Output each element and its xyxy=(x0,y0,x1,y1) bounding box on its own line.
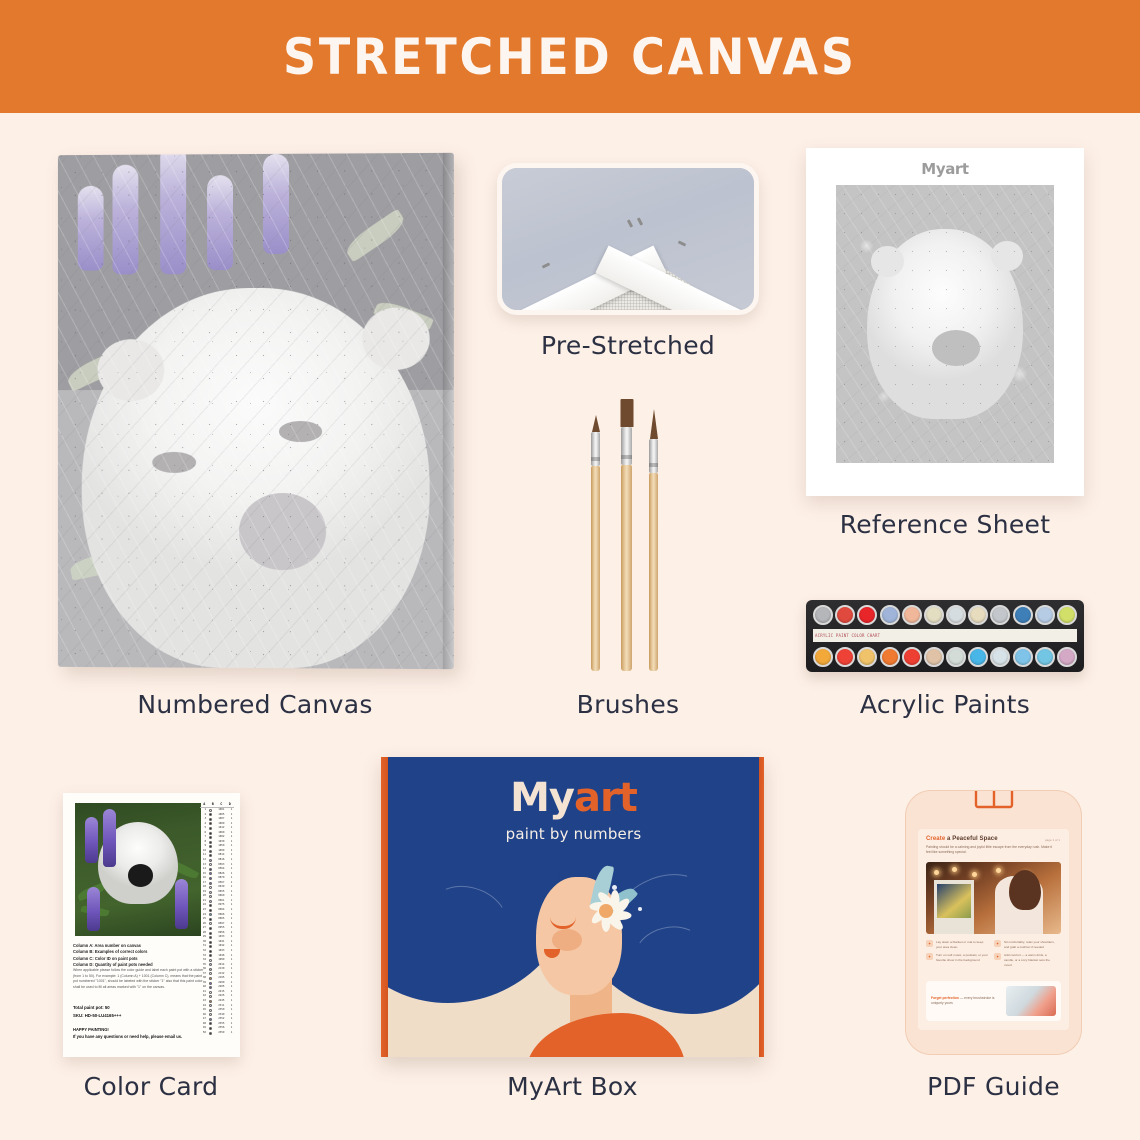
color-card-swatch xyxy=(208,982,214,985)
color-card-bear-snout xyxy=(128,864,153,887)
color-card-photo xyxy=(75,803,201,936)
pdf-guide-page: page 1 of 1 Create a Peaceful Space Pain… xyxy=(918,829,1069,1030)
color-card-swatch xyxy=(208,904,214,907)
paint-pot xyxy=(880,647,900,667)
color-card-column-header: B xyxy=(212,802,214,806)
canvas-side-edge xyxy=(443,153,454,669)
paint-by-number-numerals xyxy=(58,153,454,669)
paint-pot xyxy=(857,647,877,667)
pdf-tip-icon: ✦ xyxy=(994,940,1001,947)
pdf-guide-image: page 1 of 1 Create a Peaceful Space Pain… xyxy=(905,790,1082,1055)
color-card-swatch xyxy=(208,972,214,975)
caption-brushes: Brushes xyxy=(497,690,759,719)
pdf-photo xyxy=(926,862,1061,934)
paint-pot xyxy=(835,605,855,625)
color-card-swatch xyxy=(208,822,214,825)
color-card-swatch xyxy=(208,1004,214,1007)
color-card-quantity: 1 xyxy=(229,1031,234,1036)
paint-pot xyxy=(968,647,988,667)
color-card-swatch xyxy=(208,954,214,957)
color-card-swatch xyxy=(208,950,214,953)
color-card-swatch xyxy=(208,895,214,898)
illustration-eyelash xyxy=(550,917,576,929)
color-card-swatch xyxy=(208,1018,214,1021)
pdf-subtitle: Painting should be a calming and joyful … xyxy=(926,845,1058,856)
color-card-swatch xyxy=(208,827,214,830)
gift-icon xyxy=(966,790,1022,822)
color-card-swatch xyxy=(208,854,214,857)
color-card-image: ABCD 11001121005131007141009151012161060… xyxy=(63,793,240,1057)
color-card-swatch xyxy=(208,882,214,885)
color-card-swatch xyxy=(208,832,214,835)
daisy-flower-icon xyxy=(584,889,628,933)
paint-pot xyxy=(968,605,988,625)
color-card-swatch xyxy=(208,886,214,889)
color-card-color-id: 2359 xyxy=(215,1031,227,1036)
box-logo-art: art xyxy=(574,775,637,821)
paint-pot xyxy=(946,605,966,625)
color-card-swatch xyxy=(208,941,214,944)
color-card-column-header: D xyxy=(229,802,231,806)
illustration-lips xyxy=(544,949,560,958)
pre-stretched-image xyxy=(497,163,759,315)
box-logo: Myart xyxy=(388,775,759,821)
color-card-swatch xyxy=(208,818,214,821)
illustration-cheek xyxy=(552,929,582,951)
box-edge-right xyxy=(759,757,764,1057)
color-card-lupine xyxy=(175,879,188,929)
pdf-callout: Forget perfection — every brushstroke is… xyxy=(926,981,1061,1021)
paint-pot xyxy=(924,605,944,625)
paint-pot xyxy=(1035,647,1055,667)
color-card-swatch xyxy=(208,977,214,980)
pdf-photo-hair xyxy=(1009,870,1041,910)
pdf-callout-text: Forget perfection — every brushstroke is… xyxy=(931,996,1001,1006)
daisy-center xyxy=(599,904,613,918)
paint-pot xyxy=(1035,605,1055,625)
pdf-heading: Create a Peaceful Space xyxy=(926,836,1061,842)
caption-pre-stretched: Pre-Stretched xyxy=(497,331,759,360)
color-card-table-body: 1100112100513100714100915101216106017100… xyxy=(200,808,234,1035)
paint-pot xyxy=(902,647,922,667)
pdf-tip-text: Lay down a blanket or mat to keep your a… xyxy=(936,940,989,950)
color-card-swatch xyxy=(208,836,214,839)
color-card-swatch xyxy=(208,859,214,862)
color-card-swatch xyxy=(208,813,214,816)
caption-myart-box: MyArt Box xyxy=(381,1072,764,1101)
box-logo-my: My xyxy=(510,775,574,821)
brushes-image xyxy=(583,388,679,671)
color-card-swatch xyxy=(208,845,214,848)
pdf-page-label: page 1 of 1 xyxy=(1045,838,1060,842)
brush-tip-bristles xyxy=(620,399,633,427)
pdf-tip-icon: ✦ xyxy=(926,953,933,960)
box-tagline: paint by numbers xyxy=(388,825,759,843)
color-card-swatch xyxy=(208,936,214,939)
brush-tip-bristles xyxy=(592,415,600,432)
pdf-tip-item: ✦Sit comfortably, relax your shoulders, … xyxy=(994,940,1057,950)
acrylic-paints-image: ACRYLIC PAINT COLOR CHART xyxy=(806,600,1084,672)
product-infographic: STRETCHED CANVAS xyxy=(0,0,1140,1140)
reference-number-dots xyxy=(836,185,1054,463)
pdf-callout-accent: Forget perfection xyxy=(931,996,959,1000)
color-card-swatch xyxy=(208,913,214,916)
color-card-happy-painting: HAPPY PAINTING! xyxy=(73,1027,213,1034)
color-card-swatch xyxy=(208,968,214,971)
pdf-tip-item: ✦Add comfort — a warm drink, a candle, o… xyxy=(994,953,1057,967)
box-edge-left xyxy=(381,757,388,1057)
color-card-swatch xyxy=(208,877,214,880)
color-card-swatch xyxy=(208,841,214,844)
paint-pot xyxy=(835,647,855,667)
header-banner: STRETCHED CANVAS xyxy=(0,0,1140,113)
color-card-swatch xyxy=(208,927,214,930)
color-card-swatch xyxy=(208,1009,214,1012)
paint-pot xyxy=(880,605,900,625)
page-title: STRETCHED CANVAS xyxy=(283,28,857,86)
paint-pot xyxy=(857,605,877,625)
paint-pot xyxy=(990,605,1010,625)
pdf-tip-text: Add comfort — a warm drink, a candle, or… xyxy=(1004,953,1057,967)
pdf-photo-easel xyxy=(934,880,974,934)
color-card-lupine xyxy=(103,809,116,867)
paint-pot-row-bottom xyxy=(813,647,1077,667)
color-card-total-pots: Total paint pot: 50 xyxy=(73,1004,205,1012)
color-card-swatch xyxy=(208,891,214,894)
color-card-column-header: C xyxy=(220,802,222,806)
color-card-swatch xyxy=(208,963,214,966)
brush-flat xyxy=(621,400,632,671)
box-front-panel: Myart paint by numbers xyxy=(388,757,759,1057)
color-card-swatch xyxy=(208,850,214,853)
color-card-swatch xyxy=(208,1013,214,1016)
canvas-artwork xyxy=(58,153,454,669)
pdf-tips-list: ✦Lay down a blanket or mat to keep your … xyxy=(926,940,1061,968)
pdf-tip-icon: ✦ xyxy=(926,940,933,947)
color-card-swatch xyxy=(208,945,214,948)
color-card-swatch xyxy=(208,918,214,921)
color-card-swatch xyxy=(208,863,214,866)
pdf-tip-text: Sit comfortably, relax your shoulders, a… xyxy=(1004,940,1057,950)
color-card-swatch xyxy=(208,1022,214,1025)
color-card-swatch xyxy=(208,995,214,998)
myart-box-image: Myart paint by numbers xyxy=(381,757,764,1057)
color-card-swatch xyxy=(208,922,214,925)
pdf-heading-accent: Create xyxy=(926,836,945,842)
brush-tip-bristles xyxy=(650,409,658,439)
paint-pot xyxy=(924,647,944,667)
color-card-swatch xyxy=(208,909,214,912)
color-card-swatch xyxy=(208,900,214,903)
caption-reference-sheet: Reference Sheet xyxy=(806,510,1084,539)
color-card-sku: SKU: HD-50-LU4165+++ xyxy=(73,1012,205,1020)
pdf-tip-item: ✦Lay down a blanket or mat to keep your … xyxy=(926,940,989,950)
caption-color-card: Color Card xyxy=(40,1072,262,1101)
brush-medium-round xyxy=(649,409,658,671)
pdf-tip-icon: ✦ xyxy=(994,953,1001,960)
color-card-instructions: When applicable please follow the color … xyxy=(73,968,205,990)
color-card-table: ABCD 11001121005131007141009151012161060… xyxy=(200,802,234,1050)
color-card-swatch xyxy=(208,991,214,994)
color-card-lupine xyxy=(87,887,100,931)
reference-sheet-image: Myart xyxy=(806,148,1084,496)
paint-chart-label: ACRYLIC PAINT COLOR CHART xyxy=(813,629,1077,642)
paint-pot xyxy=(1057,647,1077,667)
color-card-footer: HAPPY PAINTING! If you have any question… xyxy=(73,1027,213,1041)
color-card-swatch xyxy=(208,986,214,989)
pdf-callout-image xyxy=(1006,986,1056,1016)
color-card-swatch xyxy=(208,868,214,871)
color-card-swatch xyxy=(208,1000,214,1003)
color-card-swatch xyxy=(208,959,214,962)
pdf-heading-rest: a Peaceful Space xyxy=(945,836,997,842)
brush-fine-round xyxy=(591,416,600,671)
caption-pdf-guide: PDF Guide xyxy=(880,1072,1107,1101)
sparkle-dot xyxy=(638,907,642,911)
caption-acrylic-paints: Acrylic Paints xyxy=(806,690,1084,719)
paint-pot xyxy=(813,605,833,625)
paint-pot xyxy=(946,647,966,667)
paint-pot xyxy=(1013,647,1033,667)
caption-numbered-canvas: Numbered Canvas xyxy=(57,690,453,719)
color-card-totals: Total paint pot: 50 SKU: HD-50-LU4165+++ xyxy=(73,1004,205,1019)
color-card-swatch xyxy=(208,932,214,935)
color-card-legend: Column A: Area number on canvasColumn B:… xyxy=(73,943,205,968)
color-card-column-header: A xyxy=(203,802,205,806)
numbered-canvas-image xyxy=(58,153,454,669)
color-card-lupine xyxy=(85,817,98,863)
color-card-swatch xyxy=(208,809,214,812)
paint-pot xyxy=(990,647,1010,667)
color-card-swatch xyxy=(208,872,214,875)
reference-sheet-artwork xyxy=(836,185,1054,463)
color-card-support: If you have any questions or need help, … xyxy=(73,1034,213,1041)
paint-pot xyxy=(902,605,922,625)
paint-pot-row-top xyxy=(813,605,1077,625)
reference-sheet-logo: Myart xyxy=(806,160,1084,178)
pdf-photo-painting xyxy=(937,884,971,918)
paint-pot xyxy=(1057,605,1077,625)
pdf-tip-item: ✦Turn on soft music, a podcast, or your … xyxy=(926,953,989,967)
paint-pot xyxy=(813,647,833,667)
paint-pot xyxy=(1013,605,1033,625)
pdf-tip-text: Turn on soft music, a podcast, or your f… xyxy=(936,953,989,967)
